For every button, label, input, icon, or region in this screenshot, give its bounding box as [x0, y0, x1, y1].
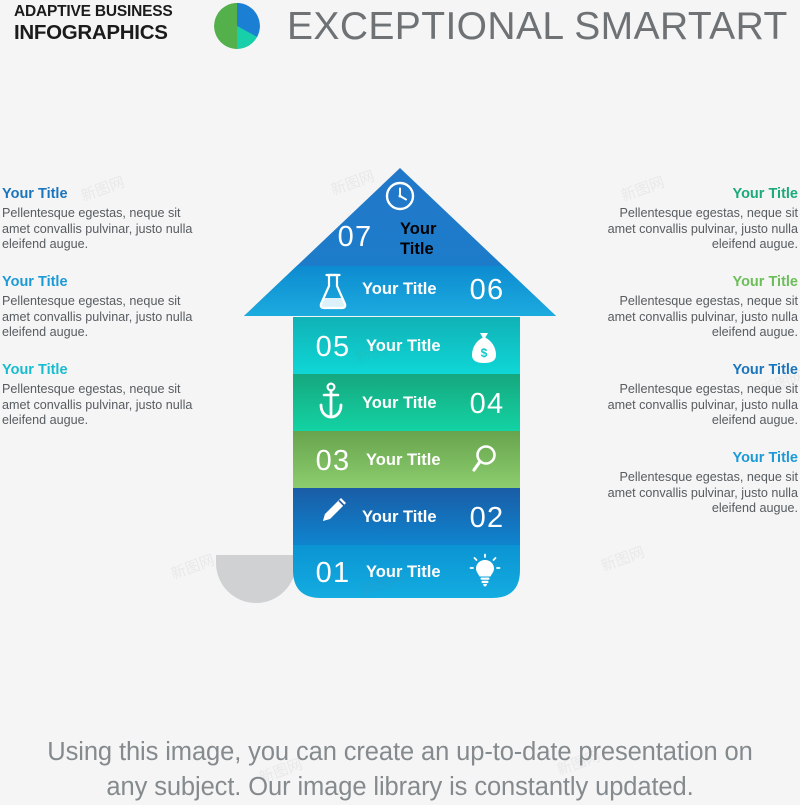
footer-caption: Using this image, you can create an up-t… [0, 735, 800, 805]
step-02-band[interactable]: Your Title 02 [293, 488, 520, 545]
step-07-number: 07 [338, 221, 373, 253]
footer-caption-line-2: any subject. Our image library is consta… [0, 770, 800, 805]
arrow-infographic: 07 YourTitle Your Title 06 05 Your Title… [0, 0, 800, 620]
step-01-label: Your Title [366, 563, 441, 581]
svg-text:$: $ [481, 346, 488, 360]
step-05-band[interactable]: 05 Your Title $ [293, 317, 520, 374]
step-02-label: Your Title [362, 508, 437, 526]
step-04-label: Your Title [362, 394, 437, 412]
step-02-number: 02 [470, 502, 505, 534]
step-05-label: Your Title [366, 337, 441, 355]
step-04-band[interactable]: Your Title 04 [293, 374, 520, 431]
step-06-label: Your Title [362, 280, 437, 298]
decorative-half-disc [216, 555, 296, 603]
step-01-band[interactable]: 01 Your Title [293, 545, 520, 598]
step-05-number: 05 [316, 331, 351, 363]
footer-caption-line-1: Using this image, you can create an up-t… [0, 735, 800, 770]
step-03-number: 03 [316, 445, 351, 477]
step-03-band[interactable]: 03 Your Title [293, 431, 520, 488]
step-06-number: 06 [470, 274, 505, 306]
step-03-label: Your Title [366, 451, 441, 469]
step-04-number: 04 [470, 388, 505, 420]
step-01-number: 01 [316, 557, 351, 589]
